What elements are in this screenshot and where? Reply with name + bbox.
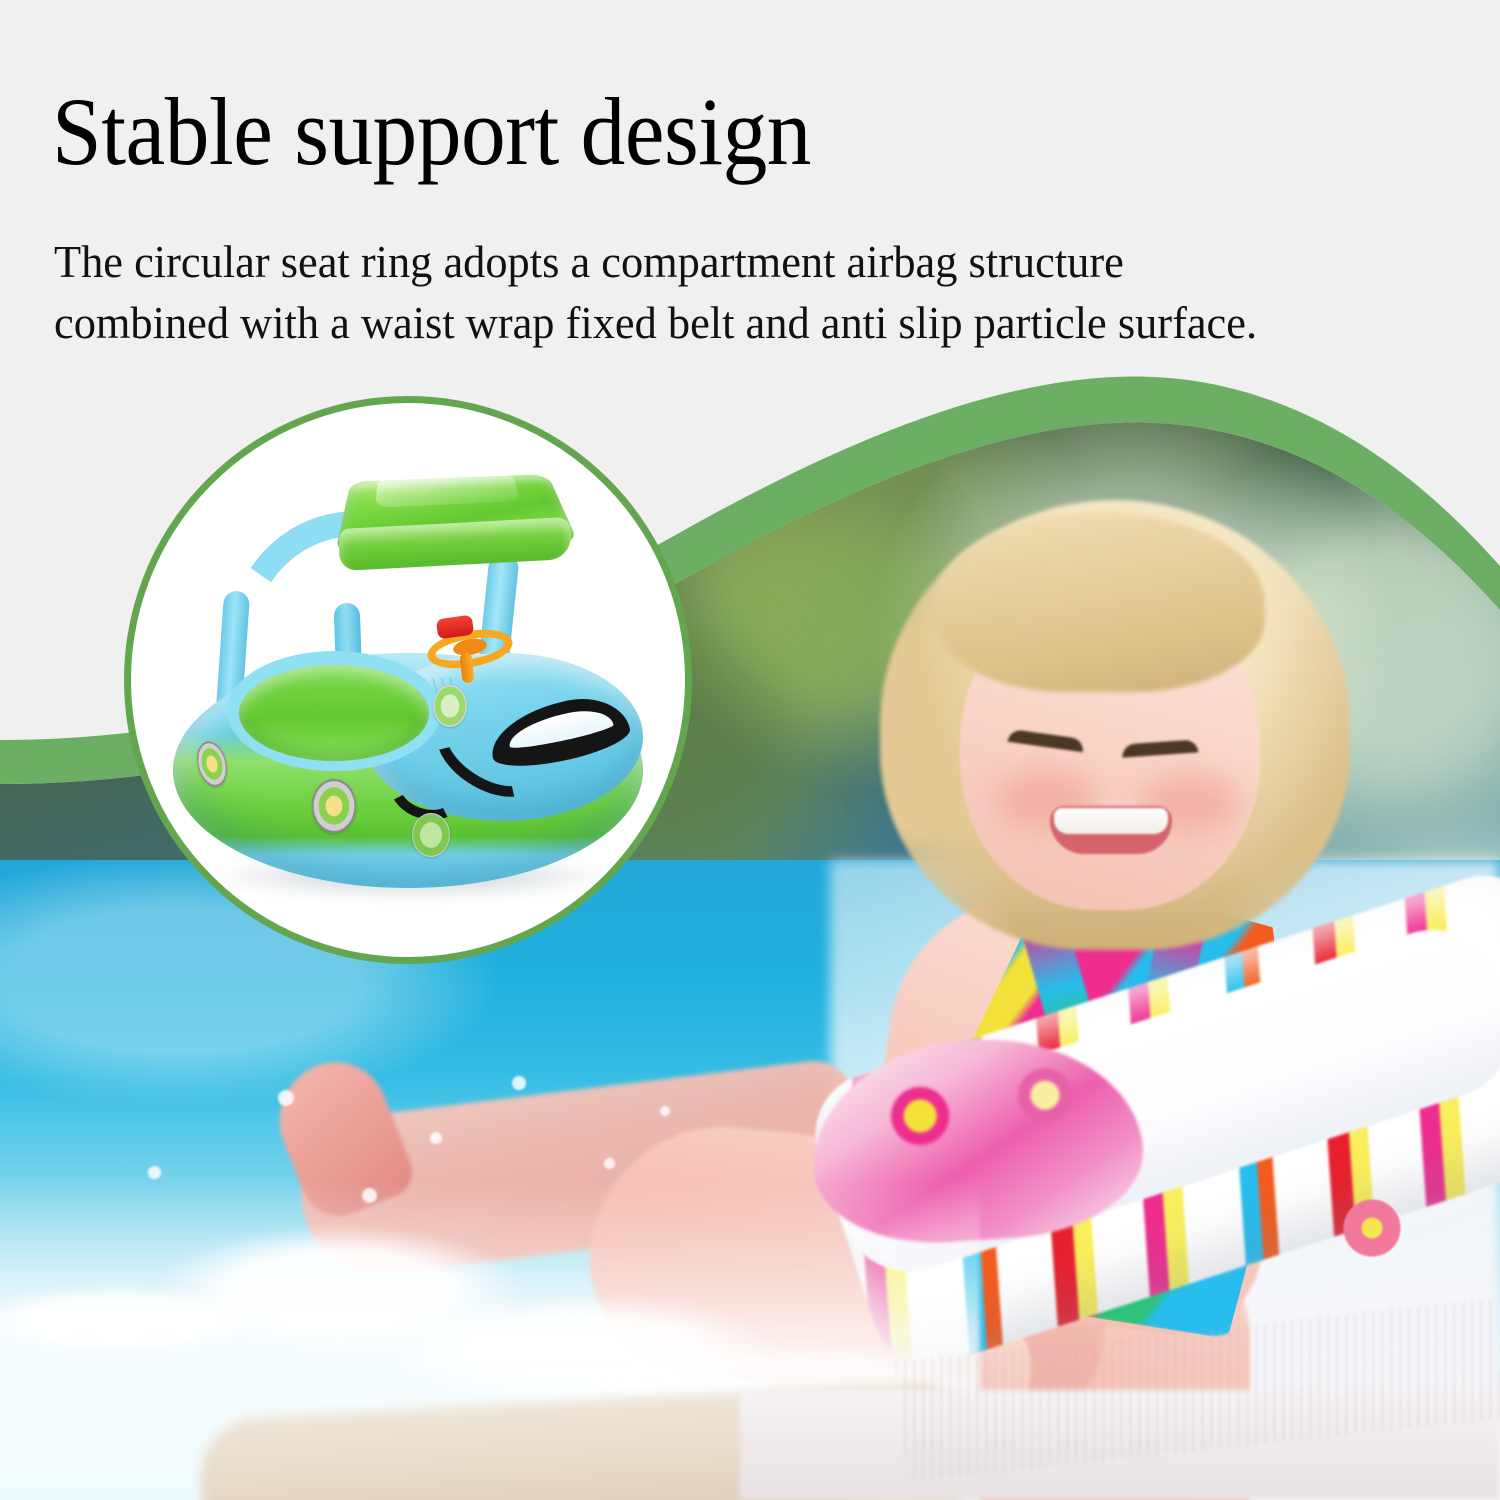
subtitle-line-1: The circular seat ring adopts a compartm… [54, 236, 1124, 287]
page-subtitle: The circular seat ring adopts a compartm… [54, 231, 1257, 353]
seat-opening [239, 665, 429, 761]
star-sticker [412, 813, 450, 857]
star-sticker [433, 685, 467, 727]
child-mouth [1050, 806, 1172, 854]
child-hair-fringe [935, 512, 1265, 692]
star-sticker [312, 779, 356, 833]
product-feature-banner: Stable support design The circular seat … [0, 0, 1500, 1500]
child-teeth [1054, 808, 1168, 834]
water-droplet [278, 1090, 294, 1106]
water-droplet [362, 1188, 377, 1203]
header-block: Stable support design The circular seat … [0, 0, 1500, 400]
page-title: Stable support design [52, 84, 811, 180]
water-droplet [512, 1076, 526, 1090]
water-droplet [148, 1166, 161, 1179]
product-image [131, 403, 685, 957]
product-inset-circle [124, 396, 692, 964]
flower-print [1340, 1196, 1404, 1260]
water-droplet [660, 1106, 670, 1116]
subtitle-line-2: combined with a waist wrap fixed belt an… [54, 292, 1257, 353]
water-droplet [604, 1158, 615, 1169]
water-droplet [430, 1132, 442, 1144]
